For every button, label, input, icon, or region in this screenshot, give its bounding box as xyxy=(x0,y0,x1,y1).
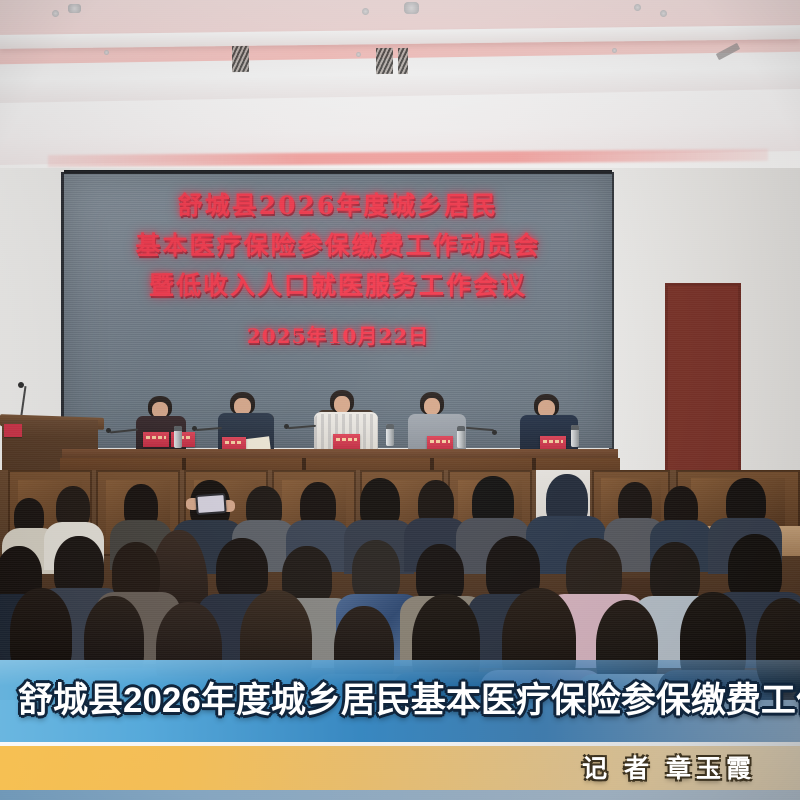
attendee-head xyxy=(352,540,400,602)
podium-red-plate xyxy=(4,424,22,437)
ceiling-light xyxy=(104,50,109,55)
ceiling-light xyxy=(356,52,361,57)
audience-area xyxy=(0,470,800,700)
lower-third-bottom-edge xyxy=(0,790,800,800)
lower-third-separator xyxy=(0,742,800,746)
microphone-head-icon xyxy=(284,424,289,429)
microphone-head-icon xyxy=(106,428,111,433)
broadcast-screenshot: 舒城县2026年度城乡居民 基本医疗保险参保缴费工作动员会 暨低收入人口就医服务… xyxy=(0,0,800,800)
microphone-head-icon xyxy=(192,426,197,431)
air-vent-icon xyxy=(398,48,408,74)
ceiling-light xyxy=(52,10,59,17)
air-vent-icon xyxy=(376,48,393,74)
thermos xyxy=(571,425,579,447)
ceiling xyxy=(0,0,800,178)
ceiling-light xyxy=(634,4,641,11)
attendee-head xyxy=(216,538,268,602)
attendee-head xyxy=(756,598,800,692)
backdrop-banner-text: 舒城县2026年度城乡居民 基本医疗保险参保缴费工作动员会 暨低收入人口就医服务… xyxy=(64,186,612,354)
lower-third-yellow-band xyxy=(0,746,800,790)
ceiling-light xyxy=(660,10,667,17)
smartphone xyxy=(195,493,226,515)
thermos xyxy=(386,424,394,446)
lower-third-reporter: 记 者 章玉霞 xyxy=(582,748,756,790)
air-vent-icon xyxy=(232,46,249,72)
backdrop-line-3: 暨低收入人口就医服务工作会议 xyxy=(64,266,612,306)
nameplate xyxy=(143,432,169,447)
thermos xyxy=(174,426,182,448)
microphone-head-icon xyxy=(492,430,497,435)
backdrop-line-1: 舒城县2026年度城乡居民 xyxy=(64,186,612,226)
person-face xyxy=(334,396,350,413)
ceiling-light xyxy=(362,8,369,15)
thermos xyxy=(457,426,465,448)
side-door[interactable] xyxy=(665,283,741,483)
attendee-shoulders xyxy=(658,670,772,700)
backdrop-line-2: 基本医疗保险参保缴费工作动员会 xyxy=(64,226,612,266)
ceiling-light xyxy=(612,48,617,53)
ceiling-light xyxy=(68,4,81,13)
nameplate xyxy=(333,434,360,449)
backdrop-date: 2025年10月22日 xyxy=(64,318,612,354)
podium-microphone-head-icon xyxy=(18,382,24,388)
person-face xyxy=(424,398,440,415)
ceiling-light xyxy=(404,2,419,14)
attendee-head xyxy=(650,542,700,604)
